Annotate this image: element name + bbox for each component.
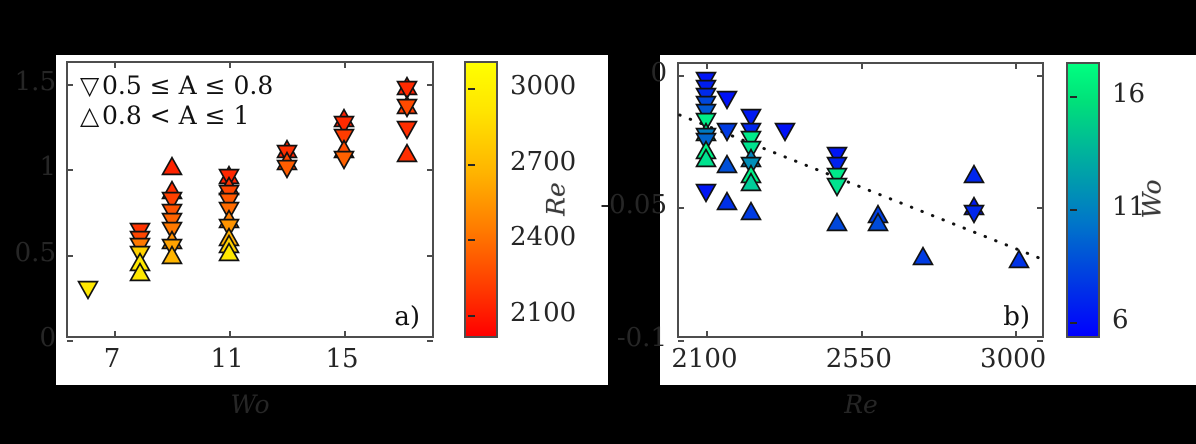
x-tick-top [1015,63,1017,69]
x-tick-label: 2100 [671,346,737,372]
x-tick [706,331,708,337]
colorbar-tick [1070,209,1077,211]
y-tick-right [427,255,433,257]
colorbar-tick [468,239,475,241]
colorbar-tick-label: 2400 [510,224,576,250]
x-tick-top [706,63,708,69]
x-tick [1015,331,1017,337]
y-tick [678,340,684,342]
x-tick [861,331,863,337]
y-tick-label: -0.1 [0,325,667,351]
panel-b-axes: b) [677,62,1044,338]
colorbar-tick [468,315,475,317]
up-triangle-icon: △ [80,101,102,131]
legend-row-1: △0.8 < A ≤ 1 [80,101,273,131]
y-tick [67,255,73,257]
y-tick-label: 1 [0,154,56,180]
y-tick-right [1037,75,1043,77]
colorbar-tick [1070,96,1077,98]
colorbar-tick-label: 6 [1112,307,1129,333]
x-tick-top [861,63,863,69]
colorbar-tick-label: 2100 [510,300,576,326]
y-tick-right [1037,340,1043,342]
y-tick-label: -0.05 [0,192,667,218]
y-tick-right [427,169,433,171]
y-tick-label: 0.5 [0,240,56,266]
x-tick-label: 3000 [980,346,1046,372]
panel-b-colorbar-title: Wo [1138,179,1167,218]
colorbar-tick [468,164,475,166]
panel-a-xlabel: Wo [230,390,269,419]
legend-label-1: 0.8 < A ≤ 1 [102,101,249,130]
panel-b-tag: b) [1003,302,1030,332]
panel-b-colorbar [1066,62,1100,338]
y-tick [678,75,684,77]
colorbar-tick-label: 2700 [510,149,576,175]
y-tick [678,207,684,209]
colorbar-tick-label: 16 [1112,81,1145,107]
x-tick-label: 2550 [826,346,892,372]
y-tick-label: 0 [0,60,667,86]
panel-b-xlabel: Re [844,390,878,419]
figure-canvas: ▽0.5 ≤ A ≤ 0.8 △0.8 < A ≤ 1 a) b) 711150… [0,0,1196,444]
y-tick-right [1037,207,1043,209]
colorbar-tick [468,88,475,90]
y-tick [67,169,73,171]
colorbar-tick [1070,322,1077,324]
